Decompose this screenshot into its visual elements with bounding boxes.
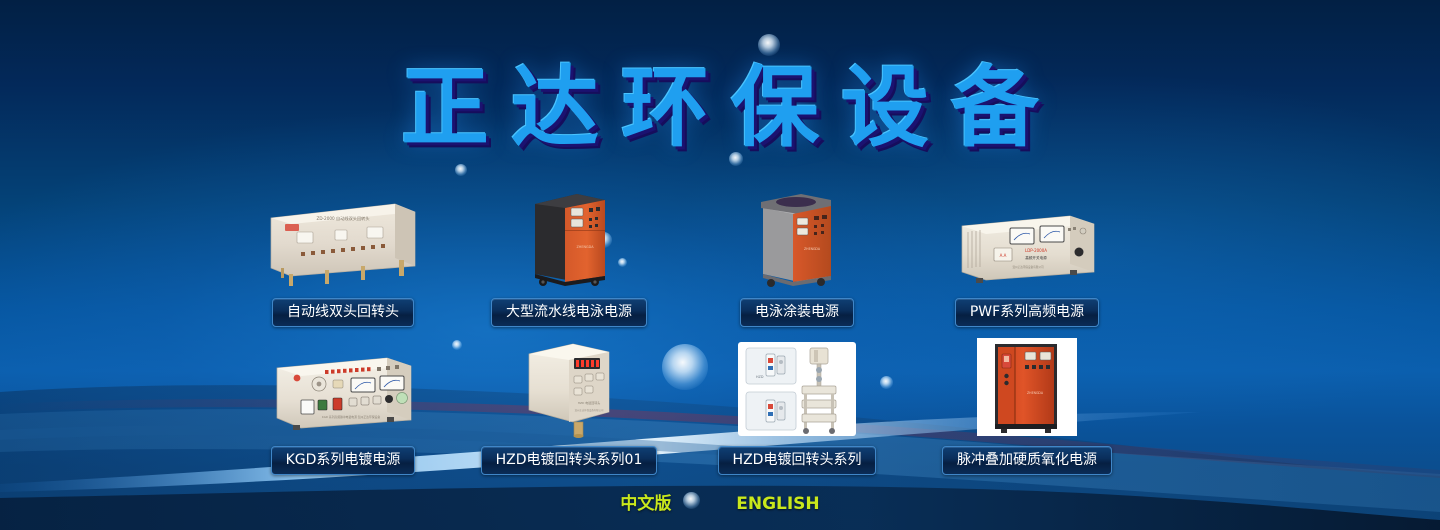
product-card[interactable]: ZD-2000 自动线双头回转头 自动线双头回转头	[218, 186, 468, 327]
product-label[interactable]: HZD电镀回转头系列01	[481, 446, 658, 475]
product-label[interactable]: 电泳涂装电源	[740, 298, 854, 327]
svg-text:HZD: HZD	[756, 375, 764, 379]
svg-text:高频开关电源: 高频开关电源	[1025, 255, 1047, 260]
svg-text:ZHENGDA: ZHENGDA	[576, 245, 594, 249]
product-card[interactable]: ZHENGDA 电泳涂装电源	[672, 186, 922, 327]
product-card[interactable]: KGD 系列高频脉冲电镀电源 温州正达环保设备 KGD系列电镀电源	[218, 334, 468, 475]
long-beige-cabinet-photo: ZD-2000 自动线双头回转头	[218, 186, 468, 290]
svg-text:HZD 电镀回转头: HZD 电镀回转头	[578, 400, 601, 405]
svg-text:温州正达环保设备有限公司: 温州正达环保设备有限公司	[575, 408, 604, 412]
product-card[interactable]: ZHENGDA 大型流水线电泳电源	[444, 186, 694, 327]
bokeh-dot	[455, 164, 467, 176]
orange-gray-cabinet-photo: ZHENGDA	[672, 186, 922, 290]
control-panel-unit-photo: KGD 系列高频脉冲电镀电源 温州正达环保设备	[218, 334, 468, 438]
svg-text:LDP-2000A: LDP-2000A	[1025, 248, 1047, 253]
svg-text:ZD-2000 自动线双头回转头: ZD-2000 自动线双头回转头	[316, 215, 369, 222]
svg-text:A.A: A.A	[1000, 253, 1007, 258]
svg-text:ZHENGDA: ZHENGDA	[1027, 391, 1044, 395]
cream-led-controller-photo: HZD 电镀回转头 温州正达环保设备有限公司	[444, 334, 694, 438]
product-label[interactable]: 脉冲叠加硬质氧化电源	[942, 446, 1112, 475]
tall-red-cabinet-photo: ZHENGDA	[902, 334, 1152, 438]
svg-text:ZHENGDA: ZHENGDA	[804, 247, 821, 251]
language-switcher: 中文版 ENGLISH	[0, 489, 1440, 514]
lang-link-chinese[interactable]: 中文版	[620, 489, 671, 514]
product-label[interactable]: 自动线双头回转头	[272, 298, 414, 327]
homepage-banner: 正达环保设备 ZD-2000 自动线双头回	[0, 0, 1440, 530]
product-card[interactable]: HZD 电镀回转头 温州正达环保设备有限公司 HZD电镀回转头系列01	[444, 334, 694, 475]
page-title: 正达环保设备	[0, 64, 1440, 152]
product-label[interactable]: PWF系列高频电源	[955, 298, 1099, 327]
product-label[interactable]: HZD电镀回转头系列	[718, 446, 877, 475]
product-card[interactable]: HZD	[672, 334, 922, 475]
benchtop-meter-unit-photo: A.A LDP-2000A 高频开关电源 温州正达环保设备有限公司	[902, 186, 1152, 290]
bokeh-dot	[758, 34, 780, 56]
product-card[interactable]: A.A LDP-2000A 高频开关电源 温州正达环保设备有限公司 PWF系列高…	[902, 186, 1152, 327]
product-label[interactable]: KGD系列电镀电源	[271, 446, 416, 475]
product-card[interactable]: ZHENGDA 脉冲叠加硬质氧化电源	[902, 334, 1152, 475]
orange-black-cabinet-photo: ZHENGDA	[444, 186, 694, 290]
svg-text:温州正达环保设备有限公司: 温州正达环保设备有限公司	[1012, 265, 1044, 269]
lang-link-english[interactable]: ENGLISH	[736, 494, 819, 514]
svg-text:KGD 系列高频脉冲电镀电源 温州正达环保设备: KGD 系列高频脉冲电镀电源 温州正达环保设备	[322, 415, 380, 419]
product-label[interactable]: 大型流水线电泳电源	[491, 298, 647, 327]
rotating-head-stand-photo: HZD	[672, 334, 922, 438]
